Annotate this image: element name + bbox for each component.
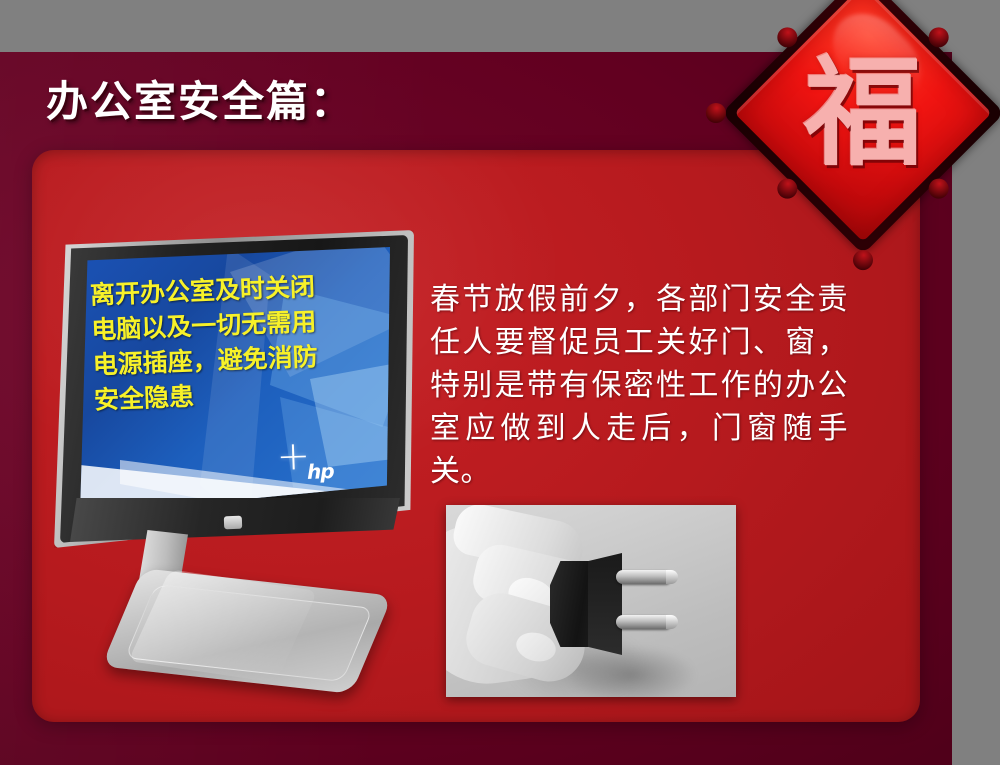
monitor-power-button-icon [224,516,242,530]
hp-plus-icon: + [276,442,310,471]
fu-diamond-ornament: 福 [732,0,994,284]
fu-knob-top-right [996,99,1000,127]
plug-prong-bottom [616,615,672,629]
plug-prong-tip-top [666,570,678,584]
fu-diamond-rotator: 福 [734,0,991,242]
monitor-screen-message: 离开办公室及时关闭电脑以及一切无需用电源插座，避免消防安全隐患 [89,268,336,417]
body-paragraph: 春节放假前夕，各部门安全责任人要督促员工关好门、窗，特别是带有保密性工作的办公室… [430,278,848,493]
plug-prong-top [616,570,672,584]
fu-knob-bottom-right [849,246,877,274]
power-plug-photo [446,505,736,697]
plug-shadow [566,645,696,697]
hp-monitor-illustration: + hp 离开办公室及时关闭电脑以及一切无需用电源插座，避免消防安全隐患 [36,230,436,660]
page-title: 办公室安全篇： [46,78,354,126]
monitor-screen: + hp 离开办公室及时关闭电脑以及一切无需用电源插座，避免消防安全隐患 [80,247,390,515]
plug-prong-tip-bottom [666,615,678,629]
plug-shoulder [588,553,622,655]
outer-gray-frame: 办公室安全篇： + hp 离开办公室及时关闭电脑以及一切无需用电源插座，避免消防… [0,0,1000,765]
fu-diamond-face: 福 [734,0,991,242]
hp-wordmark: hp [307,459,334,484]
fu-character: 福 [772,22,954,204]
